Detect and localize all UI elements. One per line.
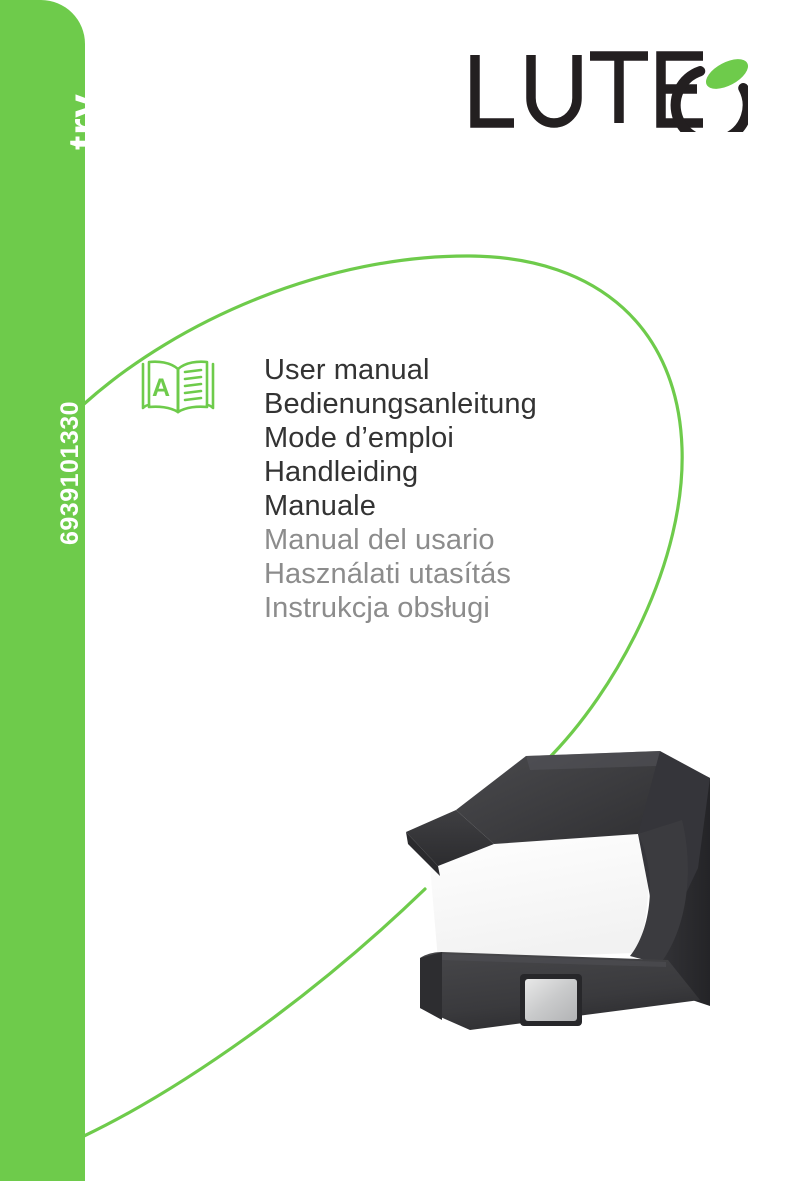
language-item-nl: Handleiding	[264, 455, 684, 489]
manual-cover-page: try 6939101330	[0, 0, 802, 1181]
language-item-de: Bedienungsanleitung	[264, 387, 684, 421]
motion-sensor-window	[520, 974, 582, 1026]
language-item-hu: Használati utasítás	[264, 557, 684, 591]
language-list: User manual Bedienungsanleitung Mode d’e…	[264, 353, 684, 625]
lutec-logo	[468, 50, 748, 132]
open-book-icon: A	[140, 356, 216, 416]
book-icon-letter-a: A	[152, 374, 170, 402]
lamp-bottom-left-cap	[420, 952, 442, 1020]
green-curve-bottom	[84, 889, 425, 1136]
product-wall-lamp-image	[398, 748, 718, 1040]
language-item-en: User manual	[264, 353, 684, 387]
language-item-pl: Instrukcja obsługi	[264, 591, 684, 625]
spine-article-code: 6939101330	[58, 401, 83, 545]
language-item-es: Manual del usario	[264, 523, 684, 557]
green-spine-bar: try 6939101330	[0, 0, 85, 1181]
language-item-fr: Mode d’emploi	[264, 421, 684, 455]
spine-brand-text: try	[63, 94, 106, 150]
language-item-it: Manuale	[264, 489, 684, 523]
logo-letters	[475, 55, 703, 123]
